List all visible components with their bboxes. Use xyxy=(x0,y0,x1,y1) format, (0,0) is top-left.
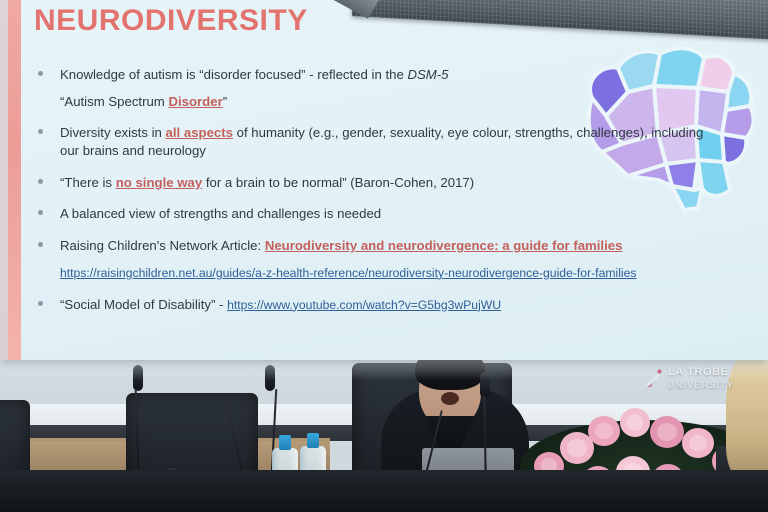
bullet-text: “Social Model of Disability” - https://w… xyxy=(60,297,501,312)
microphone-head xyxy=(480,372,490,398)
screenshot-stage: LA TROBE UNIVERSITY NEURODIVERSITY xyxy=(0,0,768,512)
bullet-url-link[interactable]: https://raisingchildren.net.au/guides/a-… xyxy=(60,266,637,280)
bullet-dot-icon xyxy=(38,71,43,76)
bullet-social-model: “Social Model of Disability” - https://w… xyxy=(34,296,724,314)
bullet-text: A balanced view of strengths and challen… xyxy=(60,206,381,221)
bullet-text-run: ” xyxy=(223,94,227,109)
la-trobe-runner-mark xyxy=(642,367,666,391)
bullet-dot-icon xyxy=(38,210,43,215)
watermark-line-1: LA TROBE xyxy=(668,366,729,378)
bullet-text: Raising Children's Network Article: Neur… xyxy=(60,238,622,253)
watermark-line-2: UNIVERSITY xyxy=(668,379,734,392)
bullet-text-run: Diversity exists in xyxy=(60,125,166,140)
bullet-dot-icon xyxy=(38,301,43,306)
bullet-text-run: for a brain to be normal” (Baron-Cohen, … xyxy=(202,175,474,190)
bullet-text-run: A balanced view of strengths and challen… xyxy=(60,206,381,221)
slide-bullet-list: Knowledge of autism is “disorder focused… xyxy=(34,66,724,327)
bullet-dot-icon xyxy=(38,129,43,134)
table-front-panel xyxy=(0,470,768,512)
bullet-emphasis: no single way xyxy=(116,175,202,190)
bullet-text-run: “Autism Spectrum xyxy=(60,94,168,109)
flower-bloom xyxy=(650,416,684,448)
flower-bloom xyxy=(588,416,620,446)
bullet-sub-line: “Autism Spectrum Disorder” xyxy=(60,93,724,111)
bullet-emphasis: all aspects xyxy=(166,125,233,140)
bullet-text: Knowledge of autism is “disorder focused… xyxy=(60,67,448,82)
slide-title: NEURODIVERSITY xyxy=(34,4,308,38)
la-trobe-watermark: LA TROBE UNIVERSITY xyxy=(642,366,742,394)
bullet-dot-icon xyxy=(38,242,43,247)
bullet-dot-icon xyxy=(38,179,43,184)
flower-bloom xyxy=(682,428,714,458)
microphone-head xyxy=(265,365,275,391)
bullet-text-run: DSM-5 xyxy=(407,67,448,82)
bullet-knowledge-autism: Knowledge of autism is “disorder focused… xyxy=(34,66,724,110)
speaker-mouth xyxy=(441,392,459,405)
bullet-article-link[interactable]: Neurodiversity and neurodivergence: a gu… xyxy=(265,238,623,253)
projected-slide: NEURODIVERSITY xyxy=(0,0,768,360)
bullet-text-run: “Social Model of Disability” - xyxy=(60,297,227,312)
watermark-text: LA TROBE UNIVERSITY xyxy=(668,366,734,392)
slide-accent-stripe xyxy=(8,0,21,360)
bullet-balanced-view: A balanced view of strengths and challen… xyxy=(34,205,724,223)
bullet-diversity-aspects: Diversity exists in all aspects of human… xyxy=(34,124,724,159)
bullet-text: Diversity exists in all aspects of human… xyxy=(60,125,703,158)
bullet-sub-line: https://raisingchildren.net.au/guides/a-… xyxy=(60,264,724,282)
flower-bloom xyxy=(620,408,650,437)
bullet-text-run: “There is xyxy=(60,175,116,190)
bullet-text-run: Raising Children's Network Article: xyxy=(60,238,265,253)
bullet-raising-children: Raising Children's Network Article: Neur… xyxy=(34,237,724,281)
microphone-head xyxy=(133,365,143,391)
bullet-text: “There is no single way for a brain to b… xyxy=(60,175,474,190)
bullet-text-run: Knowledge of autism is “disorder focused… xyxy=(60,67,407,82)
bullet-emphasis: Disorder xyxy=(168,94,222,109)
bullet-url-link[interactable]: https://www.youtube.com/watch?v=G5bg3wPu… xyxy=(227,298,501,312)
bullet-no-single-way: “There is no single way for a brain to b… xyxy=(34,174,724,192)
